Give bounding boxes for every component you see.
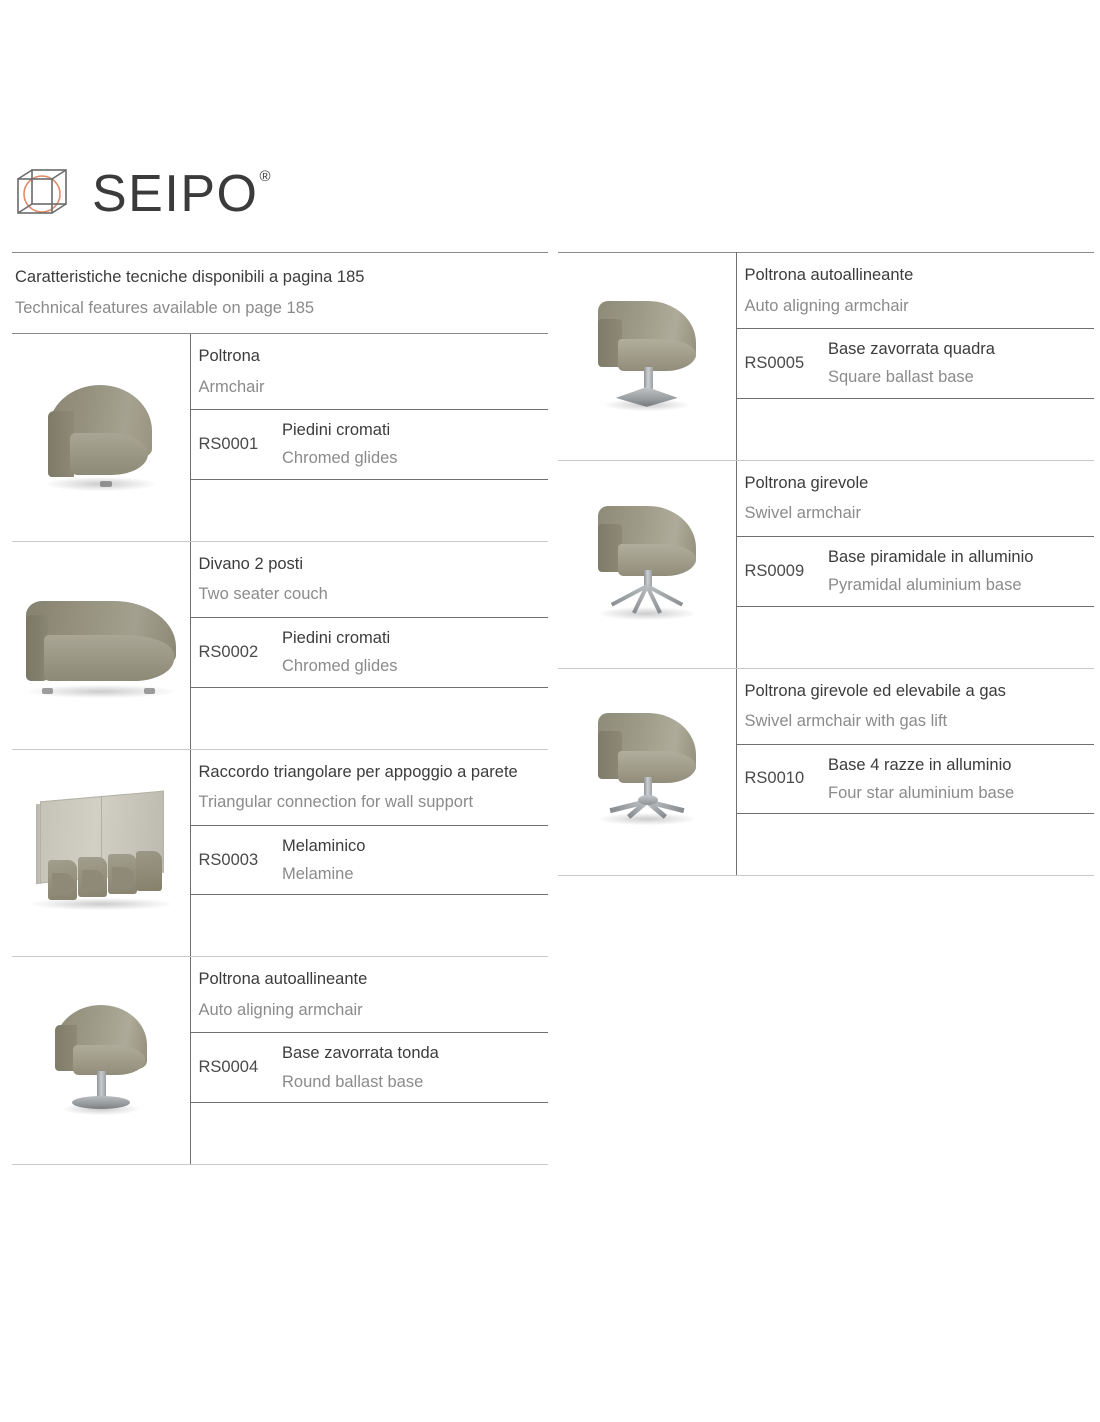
table-row: Poltrona Armchair [12, 334, 548, 410]
variant-english: Chromed glides [282, 652, 548, 680]
product-title-cell: Poltrona girevole Swivel armchair [736, 460, 1094, 536]
empty-variant-slot [190, 895, 548, 957]
left-product-table-wrapper: Caratteristiche tecniche disponibili a p… [12, 252, 548, 1165]
product-name-english: Auto aligning armchair [199, 995, 549, 1026]
technical-note-italian: Caratteristiche tecniche disponibili a p… [15, 262, 548, 293]
product-title-cell: Poltrona autoallineante Auto aligning ar… [190, 957, 548, 1033]
armchair-pyramidal-aluminium-base-image [588, 504, 706, 620]
empty-variant-slot [190, 479, 548, 541]
variant-italian: Base zavorrata quadra [828, 335, 1094, 363]
product-name-italian: Raccordo triangolare per appoggio a pare… [199, 757, 549, 788]
product-name-english: Swivel armchair with gas lift [745, 706, 1095, 737]
right-product-table: Poltrona autoallineante Auto aligning ar… [558, 252, 1094, 876]
table-row: Raccordo triangolare per appoggio a pare… [12, 749, 548, 825]
product-name-english: Auto aligning armchair [745, 291, 1095, 322]
technical-note-cell: Caratteristiche tecniche disponibili a p… [12, 253, 548, 334]
product-code: RS0001 [190, 410, 264, 480]
product-title-cell: Divano 2 posti Two seater couch [190, 541, 548, 617]
table-row: Poltrona autoallineante Auto aligning ar… [558, 253, 1094, 329]
variant-italian: Piedini cromati [282, 624, 548, 652]
table-row: Divano 2 posti Two seater couch [12, 541, 548, 617]
empty-variant-slot [736, 398, 1094, 460]
product-image-cell [558, 668, 736, 876]
product-name-english: Swivel armchair [745, 498, 1095, 529]
variant-english: Melamine [282, 860, 548, 888]
table-row: Poltrona autoallineante Auto aligning ar… [12, 957, 548, 1033]
product-variant-cell: Base zavorrata tonda Round ballast base [264, 1033, 548, 1103]
product-name-italian: Poltrona girevole ed elevabile a gas [745, 676, 1095, 707]
product-code: RS0010 [736, 744, 810, 814]
variant-italian: Base piramidale in alluminio [828, 543, 1094, 571]
product-name-italian: Poltrona [199, 341, 549, 372]
product-name-italian: Poltrona girevole [745, 468, 1095, 499]
variant-english: Square ballast base [828, 363, 1094, 391]
product-title-cell: Raccordo triangolare per appoggio a pare… [190, 749, 548, 825]
product-image-cell [12, 749, 190, 957]
product-image-cell [558, 460, 736, 668]
left-product-table: Caratteristiche tecniche disponibili a p… [12, 252, 548, 1165]
product-variant-cell: Base zavorrata quadra Square ballast bas… [810, 329, 1094, 399]
wall-panel-with-armchairs-image [26, 790, 176, 910]
registered-trademark-mark: ® [259, 168, 272, 185]
product-name-english: Armchair [199, 372, 549, 403]
product-title-cell: Poltrona autoallineante Auto aligning ar… [736, 253, 1094, 329]
product-variant-cell: Base 4 razze in alluminio Four star alum… [810, 744, 1094, 814]
brand-name-text: SEIPO [92, 165, 258, 223]
variant-italian: Piedini cromati [282, 416, 548, 444]
variant-italian: Melaminico [282, 832, 548, 860]
product-name-english: Two seater couch [199, 579, 549, 610]
empty-variant-slot [736, 606, 1094, 668]
right-product-table-wrapper: Poltrona autoallineante Auto aligning ar… [558, 252, 1094, 876]
product-image-cell [12, 957, 190, 1165]
technical-note-english: Technical features available on page 185 [15, 293, 548, 324]
product-image-cell [12, 334, 190, 542]
product-name-italian: Poltrona autoallineante [745, 260, 1095, 291]
variant-english: Four star aluminium base [828, 779, 1094, 807]
product-variant-cell: Piedini cromati Chromed glides [264, 410, 548, 480]
empty-variant-slot [736, 814, 1094, 876]
product-image-cell [12, 541, 190, 749]
variant-english: Pyramidal aluminium base [828, 571, 1094, 599]
empty-variant-slot [190, 687, 548, 749]
armchair-round-ballast-base-image [45, 1003, 157, 1113]
product-name-italian: Poltrona autoallineante [199, 964, 549, 995]
two-seater-couch-image [22, 591, 180, 695]
table-row: Poltrona girevole Swivel armchair [558, 460, 1094, 536]
product-title-cell: Poltrona girevole ed elevabile a gas Swi… [736, 668, 1094, 744]
brand-logo: SEIPO® [12, 163, 271, 225]
wireframe-cube-with-circle-icon [12, 165, 74, 223]
product-code: RS0005 [736, 329, 810, 399]
brand-name: SEIPO® [92, 168, 271, 220]
variant-italian: Base zavorrata tonda [282, 1039, 548, 1067]
product-title-cell: Poltrona Armchair [190, 334, 548, 410]
table-row: Poltrona girevole ed elevabile a gas Swi… [558, 668, 1094, 744]
product-code: RS0004 [190, 1033, 264, 1103]
product-variant-cell: Melaminico Melamine [264, 825, 548, 895]
product-variant-cell: Base piramidale in alluminio Pyramidal a… [810, 536, 1094, 606]
armchair-four-star-aluminium-base-image [588, 711, 706, 827]
product-code: RS0009 [736, 536, 810, 606]
variant-english: Chromed glides [282, 444, 548, 472]
product-name-italian: Divano 2 posti [199, 549, 549, 580]
product-image-cell [558, 253, 736, 461]
technical-note-row: Caratteristiche tecniche disponibili a p… [12, 253, 548, 334]
tub-armchair-with-glides-image [40, 381, 162, 489]
armchair-square-ballast-base-image [588, 299, 706, 409]
product-variant-cell: Piedini cromati Chromed glides [264, 617, 548, 687]
product-name-english: Triangular connection for wall support [199, 787, 549, 818]
empty-variant-slot [190, 1103, 548, 1165]
variant-italian: Base 4 razze in alluminio [828, 751, 1094, 779]
product-code: RS0002 [190, 617, 264, 687]
variant-english: Round ballast base [282, 1068, 548, 1096]
product-code: RS0003 [190, 825, 264, 895]
